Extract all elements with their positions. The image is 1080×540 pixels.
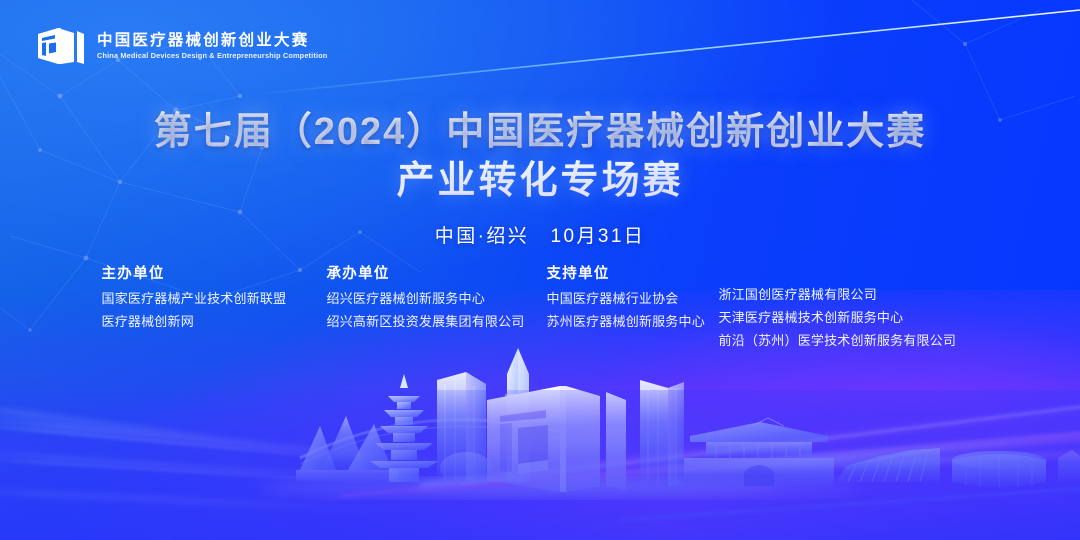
open-book-door-emblem-icon: [36, 24, 86, 70]
organizer-heading: 支持单位: [547, 262, 719, 283]
organizer-item: 浙江国创医疗器械有限公司: [719, 288, 979, 301]
organizer-column-supporter: 支持单位 中国医疗器械行业协会 苏州医疗器械创新服务中心: [547, 262, 719, 357]
organizer-item: 绍兴高新区投资发展集团有限公司: [327, 315, 547, 328]
brand-name-en: China Medical Devices Design & Entrepren…: [97, 51, 327, 60]
organizer-item: 中国医疗器械行业协会: [547, 292, 719, 305]
ground-plane: [0, 390, 1080, 540]
hero-title-block: 第七届（2024）中国医疗器械创新创业大赛 产业转化专场赛 中国·绍兴 10月3…: [0, 108, 1080, 248]
brand-logo: 中国医疗器械创新创业大赛 China Medical Devices Desig…: [36, 24, 335, 70]
brand-name-cn: 中国医疗器械创新创业大赛: [97, 32, 335, 50]
organizer-item: 医疗器械创新网: [102, 315, 327, 328]
event-place-date: 中国·绍兴 10月31日: [0, 221, 1080, 248]
page-subtitle: 产业转化专场赛: [0, 157, 1080, 206]
page-title: 第七届（2024）中国医疗器械创新创业大赛: [0, 108, 1080, 157]
organizer-heading: 主办单位: [102, 262, 327, 283]
organizers-section: 主办单位 国家医疗器械产业技术创新联盟 医疗器械创新网 承办单位 绍兴医疗器械创…: [0, 262, 1080, 357]
organizer-column-organizer: 承办单位 绍兴医疗器械创新服务中心 绍兴高新区投资发展集团有限公司: [327, 262, 547, 357]
organizer-column-host: 主办单位 国家医疗器械产业技术创新联盟 医疗器械创新网: [102, 262, 327, 357]
organizer-item: 国家医疗器械产业技术创新联盟: [102, 292, 327, 305]
poster-canvas: 中国医疗器械创新创业大赛 China Medical Devices Desig…: [0, 0, 1080, 540]
organizer-item: 绍兴医疗器械创新服务中心: [327, 292, 547, 305]
organizer-item: 天津医疗器械技术创新服务中心: [719, 311, 979, 324]
organizer-column-supporter-continued: 浙江国创医疗器械有限公司 天津医疗器械技术创新服务中心 前沿（苏州）医学技术创新…: [719, 262, 979, 357]
organizer-heading: 承办单位: [327, 262, 547, 283]
organizer-item: 苏州医疗器械创新服务中心: [547, 315, 719, 328]
organizer-item: 前沿（苏州）医学技术创新服务有限公司: [719, 334, 979, 347]
